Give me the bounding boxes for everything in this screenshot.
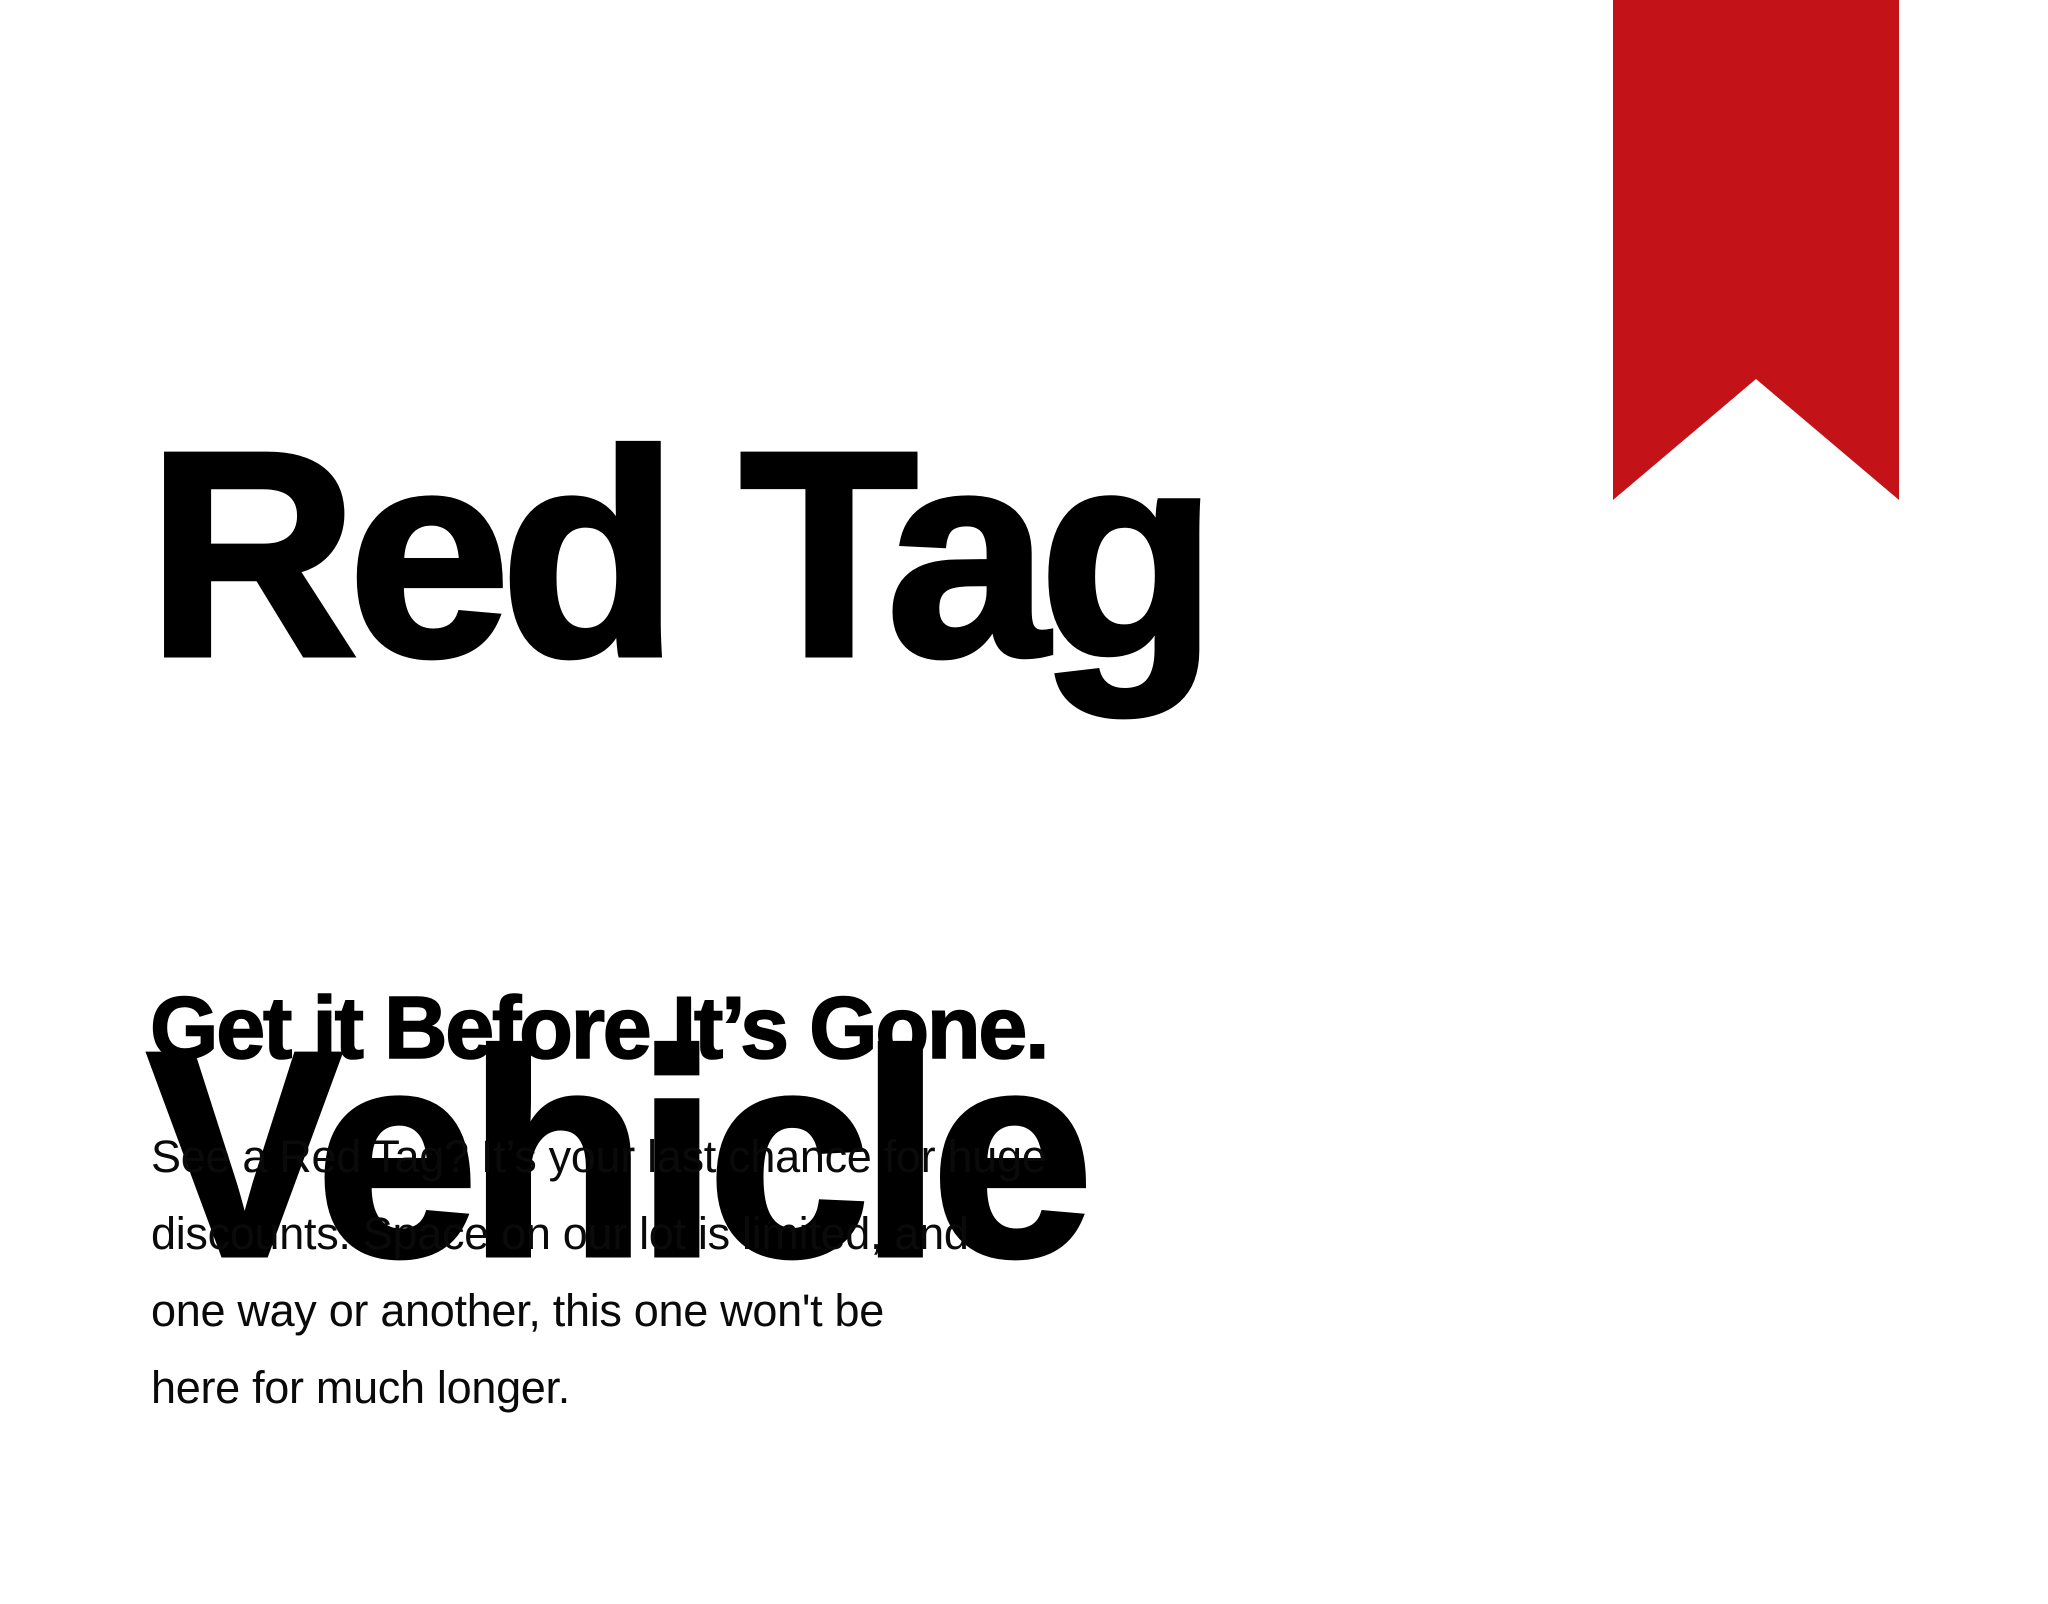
- red-tag-ribbon-icon: [1613, 0, 1899, 500]
- body-line-1: See a Red Tag? It’s your last chance for…: [151, 1118, 1311, 1195]
- poster-canvas: Red Tag Vehicle Get it Before It’s Gone.…: [0, 0, 2048, 1536]
- body-paragraph: See a Red Tag? It’s your last chance for…: [151, 1118, 1311, 1426]
- body-line-2: discounts. Space on our lot is limited, …: [151, 1195, 1311, 1272]
- headline-line-1: Red Tag: [147, 404, 1347, 704]
- body-line-3: one way or another, this one won't be: [151, 1272, 1311, 1349]
- body-line-4: here for much longer.: [151, 1349, 1311, 1426]
- subheading: Get it Before It’s Gone.: [150, 980, 1047, 1076]
